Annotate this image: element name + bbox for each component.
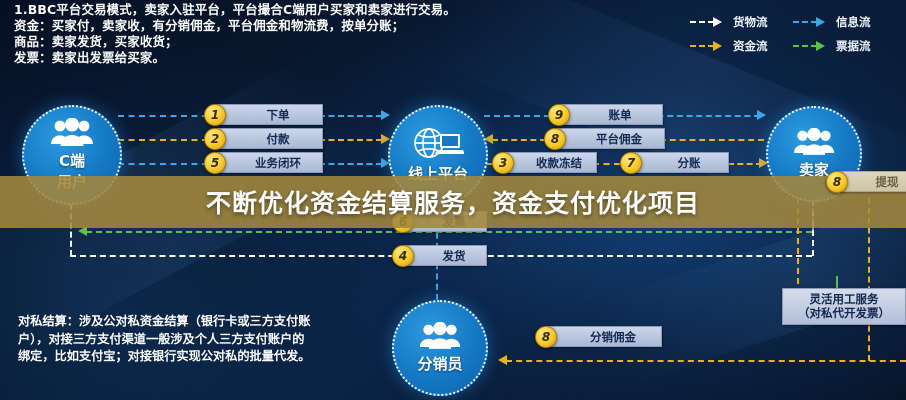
step-number: 3 (492, 152, 514, 174)
line-bill-left (484, 115, 550, 117)
step-pill-bill[interactable]: 9 账单 (548, 105, 663, 124)
legend-item-money-flow: 资金流 (690, 38, 793, 54)
diagram-canvas: 1.BBC平台交易模式，卖家入驻平台，平台撮合C端用户买家和卖家进行交易。 资金… (0, 0, 906, 400)
step-pill-order[interactable]: 1 下单 (204, 105, 323, 124)
bottom-note-line-1: 对私结算：涉及公对私资金结算（银行卡或三方支付账 (18, 313, 374, 331)
flexible-service-line-1: 灵活用工服务 (788, 292, 900, 306)
node-distributor[interactable]: 分销员 (392, 300, 488, 396)
step-label: 平台佣金 (557, 128, 665, 149)
legend-row-1: 货物流 信息流 (690, 10, 896, 34)
step-number: 1 (204, 104, 226, 126)
step-label: 分账 (633, 152, 729, 173)
step-label: 发货 (405, 245, 487, 266)
arrowhead-icon (757, 110, 766, 120)
line-commission-left (492, 139, 546, 141)
legend-row-2: 资金流 票据流 (690, 34, 896, 58)
step-label: 下单 (217, 104, 323, 125)
step-label: 收款冻结 (505, 152, 597, 173)
step-label: 提现 (839, 171, 906, 192)
overlay-banner: 不断优化资金结算服务，资金支付优化项目 (0, 176, 906, 228)
flexible-service-line-2: （对私代开发票） (788, 306, 900, 320)
globe-laptop-icon (412, 127, 464, 161)
arrowhead-icon (381, 110, 390, 120)
step-number: 9 (548, 104, 570, 126)
legend-label: 资金流 (733, 38, 768, 54)
header-line-1: 1.BBC平台交易模式，卖家入驻平台，平台撮合C端用户买家和卖家进行交易。 (14, 2, 574, 18)
header-line-3: 商品：卖家发货，买家收货； (14, 34, 574, 50)
legend-item-info-flow: 信息流 (793, 14, 896, 30)
arrow-icon (690, 41, 724, 51)
step-label: 付款 (217, 128, 323, 149)
step-pill-withdraw[interactable]: 8 提现 (826, 172, 906, 191)
legend-item-bill-flow: 票据流 (793, 38, 896, 54)
step-pill-shipping[interactable]: 4 发货 (392, 246, 487, 265)
header-line-2: 资金：买家付，卖家收，有分销佣金，平台佣金和物流费，按单分账； (14, 18, 574, 34)
step-number: 7 (620, 152, 642, 174)
line-payment-left (118, 139, 208, 141)
arrow-icon (793, 41, 827, 51)
node-label: C端 (59, 150, 85, 171)
node-label: 分销员 (417, 353, 462, 374)
step-pill-closed-loop[interactable]: 5 业务闭环 (204, 153, 323, 172)
step-number: 4 (392, 245, 414, 267)
step-pill-receipt-freeze[interactable]: 3 收款冻结 (492, 153, 597, 172)
legend-label: 票据流 (836, 38, 871, 54)
step-pill-distribution-commission[interactable]: 8 分销佣金 (535, 327, 662, 346)
line-bill-right (648, 115, 760, 117)
step-number: 5 (204, 152, 226, 174)
line-commission-right (660, 139, 764, 141)
legend: 货物流 信息流 资金流 票据流 (690, 10, 896, 58)
step-pill-payment[interactable]: 2 付款 (204, 129, 323, 148)
legend-label: 信息流 (836, 14, 871, 30)
line-order-left (118, 115, 208, 117)
bottom-note-line-3: 绑定，比如支付宝；对接银行实现公对私的批量代发。 (18, 348, 374, 366)
arrow-icon (793, 17, 827, 27)
banner-title: 不断优化资金结算服务，资金支付优化项目 (206, 184, 700, 220)
people-icon (792, 128, 836, 157)
arrow-icon (690, 17, 724, 27)
step-number: 8 (544, 128, 566, 150)
line-closeloop-left (118, 163, 208, 165)
step-label: 账单 (561, 104, 663, 125)
legend-item-goods-flow: 货物流 (690, 14, 793, 30)
step-pill-platform-commission[interactable]: 8 平台佣金 (544, 129, 665, 148)
people-icon (418, 322, 462, 351)
step-label: 业务闭环 (217, 152, 323, 173)
bottom-note: 对私结算：涉及公对私资金结算（银行卡或三方支付账 户），对接三方支付渠道一般涉及… (18, 313, 374, 366)
legend-label: 货物流 (733, 14, 768, 30)
flexible-service-box[interactable]: 灵活用工服务 （对私代开发票） (782, 288, 906, 325)
step-number: 8 (535, 326, 557, 348)
people-icon (49, 118, 95, 148)
header-description: 1.BBC平台交易模式，卖家入驻平台，平台撮合C端用户买家和卖家进行交易。 资金… (14, 2, 574, 66)
line-distribution-commission (506, 360, 906, 362)
step-number: 2 (204, 128, 226, 150)
header-line-4: 发票：卖家出发票给买家。 (14, 50, 574, 66)
step-pill-split-account[interactable]: 7 分账 (620, 153, 729, 172)
step-number: 8 (826, 171, 848, 193)
bottom-note-line-2: 户），对接三方支付渠道一般涉及个人三方支付账户的 (18, 331, 374, 349)
step-label: 分销佣金 (548, 326, 662, 347)
line-flexible-service (836, 276, 838, 288)
arrowhead-icon (498, 355, 507, 365)
